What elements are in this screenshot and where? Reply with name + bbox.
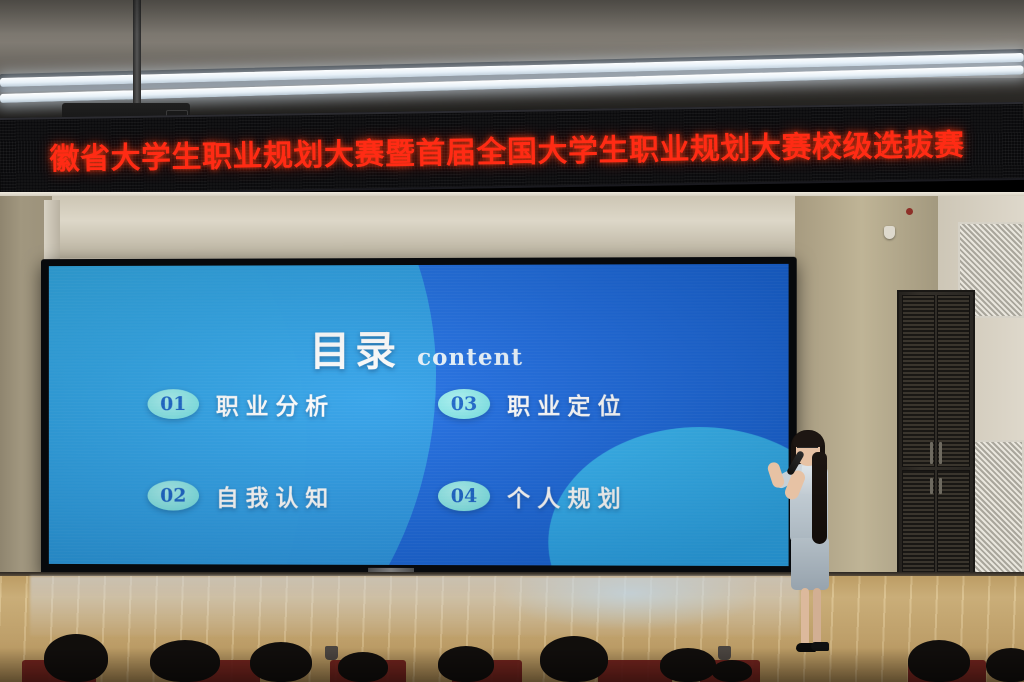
presenter-hair-front [793, 431, 823, 447]
led-banner-text: 徽省大学生职业规划大赛暨首届全国大学生职业规划大赛校级选拔赛 [49, 120, 965, 178]
cabinet-handle-upper-left[interactable] [930, 442, 933, 464]
lecture-hall-scene: 徽省大学生职业规划大赛暨首届全国大学生职业规划大赛校级选拔赛 [0, 0, 1024, 682]
toc-label-02: 自我认知 [216, 479, 335, 513]
audience-head [338, 652, 388, 682]
toc-label-01: 职业分析 [216, 387, 335, 421]
cabinet-handle-lower-left[interactable] [930, 478, 933, 494]
cabinet-handle-lower-right[interactable] [939, 478, 942, 494]
audience-head [540, 636, 608, 682]
toc-badge-04: 04 [438, 481, 490, 511]
audience-head [986, 648, 1024, 682]
cabinet-door-upper-right[interactable] [937, 295, 970, 467]
wall-camera-icon [884, 226, 895, 239]
toc-item-02[interactable]: 02 自我认知 [148, 479, 424, 513]
audience-head [150, 640, 220, 682]
toc-item-01[interactable]: 01 职业分析 [148, 387, 424, 421]
screen-bezel: 目录 content 01 职业分析 03 职业定位 [49, 264, 789, 566]
presentation-slide: 目录 content 01 职业分析 03 职业定位 [49, 264, 789, 566]
slide-title: 目录 content [49, 316, 789, 377]
audience-head [438, 646, 494, 682]
toc-item-04[interactable]: 04 个人规划 [438, 479, 718, 514]
audience-head [712, 660, 752, 682]
projection-screen[interactable]: 目录 content 01 职业分析 03 职业定位 [41, 257, 797, 577]
audience-head [908, 640, 970, 682]
audience-row [0, 626, 1024, 682]
table-of-contents: 01 职业分析 03 职业定位 02 自我认知 04 [148, 387, 718, 514]
audience-head [660, 648, 716, 682]
louvered-cabinet[interactable] [897, 290, 975, 582]
presenter-hair-tail [812, 452, 827, 544]
toc-label-03: 职业定位 [507, 387, 628, 421]
floor-light-pool [500, 578, 760, 630]
led-banner: 徽省大学生职业规划大赛暨首届全国大学生职业规划大赛校级选拔赛 [0, 102, 1024, 196]
cup-icon [718, 646, 731, 660]
toc-badge-03: 03 [438, 389, 490, 419]
cabinet-handle-upper-right[interactable] [939, 442, 942, 464]
projector-mount-pole [133, 0, 141, 105]
slide-content: 目录 content 01 职业分析 03 职业定位 [49, 264, 789, 566]
presenter [768, 430, 838, 658]
toc-item-03[interactable]: 03 职业定位 [438, 387, 718, 421]
slide-title-cn: 目录 [309, 317, 401, 377]
cup-icon [325, 646, 338, 660]
toc-badge-02: 02 [148, 481, 199, 511]
audience-head [44, 634, 108, 682]
presenter-skirt [791, 538, 829, 590]
toc-badge-01: 01 [148, 389, 199, 419]
audience-head [250, 642, 312, 682]
slide-title-en: content [417, 344, 523, 371]
toc-label-04: 个人规划 [507, 479, 628, 513]
indicator-light-icon [906, 208, 913, 215]
